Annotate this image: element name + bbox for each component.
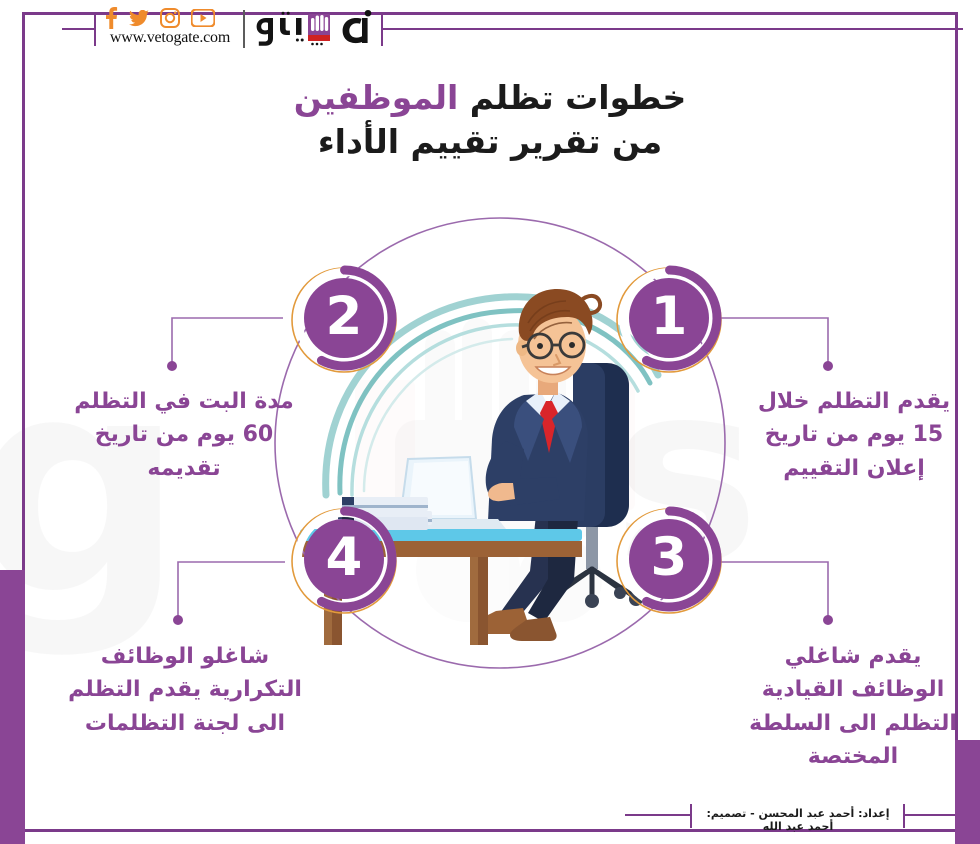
title-line-1: خطوات تظلم الموظفين [180,76,800,120]
step-marker-4[interactable]: 4 [288,503,400,615]
site-url[interactable]: www.vetogate.com [100,29,240,47]
step-number-label: 2 [288,262,400,374]
step-marker-2[interactable]: 2 [288,262,400,374]
step-description-1: يقدم التظلم خلال 15 يوم من تاريخ إعلان ا… [742,385,966,485]
header-rule-left [62,28,94,30]
step-marker-1[interactable]: 1 [613,262,725,374]
step-number-label: 1 [613,262,725,374]
page-header: www.vetogate.com [0,0,980,58]
step-description-3: يقدم شاغلي الوظائف القيادية التظلم الى ا… [736,640,970,774]
twitter-icon[interactable] [129,10,149,27]
title-text-accent: الموظفين [294,78,459,117]
svg-text:g: g [0,312,185,661]
veto-logo[interactable] [252,4,376,52]
youtube-icon[interactable] [191,9,215,27]
social-links [104,6,236,30]
footer-tick-right [903,804,905,828]
title-text-plain: خطوات تظلم [458,78,686,117]
step-number-label: 3 [613,503,725,615]
page-title: خطوات تظلم الموظفين من تقرير تقييم الأدا… [180,76,800,163]
header-divider [243,10,245,48]
step-description-4: شاغلو الوظائف التكرارية يقدم التظلم الى … [68,640,302,740]
credit-line: إعداد: أحمد عبد المحسن - تصميم: أحمد عبد… [694,807,902,833]
step-number-label: 4 [288,503,400,615]
footer-rule-left [625,814,690,816]
facebook-icon[interactable] [104,7,118,29]
footer-tick-left [690,804,692,828]
title-line-2: من تقرير تقييم الأداء [180,120,800,164]
header-rule-right [383,28,963,30]
step-description-2: مدة البت في التظلم 60 يوم من تاريخ تقديم… [72,385,296,485]
infographic-canvas: g s [0,0,980,844]
step-marker-3[interactable]: 3 [613,503,725,615]
instagram-icon[interactable] [160,8,180,28]
footer-rule-right [905,814,955,816]
header-tick-left [94,12,96,46]
